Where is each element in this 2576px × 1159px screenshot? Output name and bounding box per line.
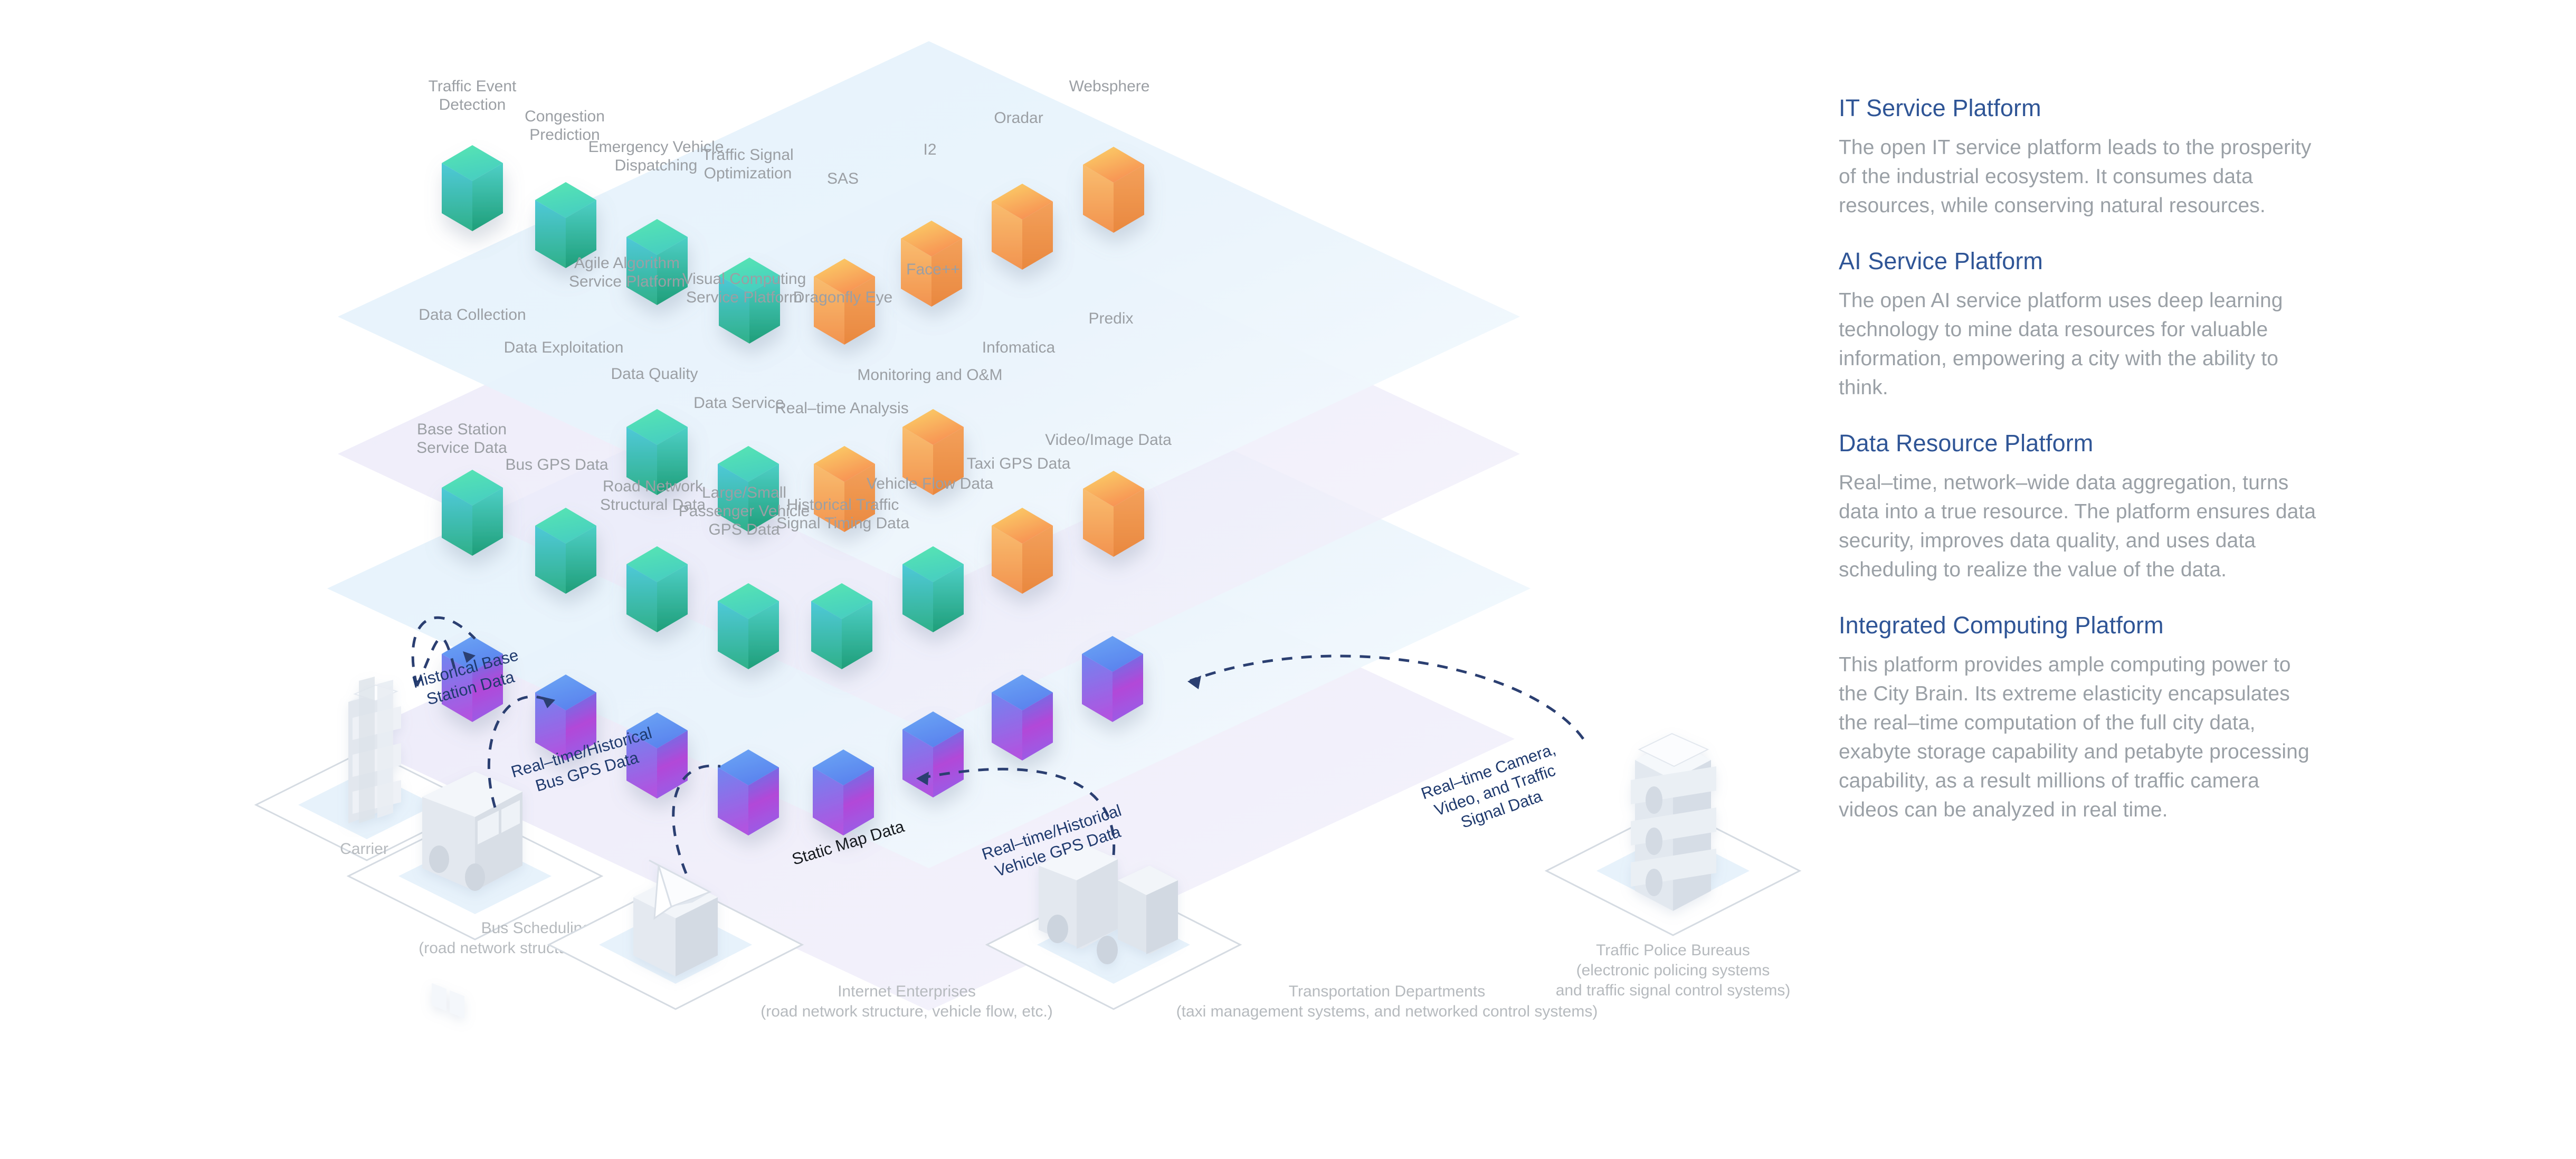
cube-data-collection[interactable] (442, 470, 503, 556)
description-title: Integrated Computing Platform (1839, 611, 2316, 639)
description-body: Real–time, network–wide data aggregation… (1839, 469, 2316, 585)
source-label: (taxi management systems, and networked … (1176, 1003, 1598, 1020)
source-label: and traffic signal control systems) (1556, 982, 1791, 999)
cube-label: Bus GPS Data (505, 456, 608, 473)
cube-label: Websphere (1069, 78, 1150, 95)
description-it-service-platform: IT Service Platform The open IT service … (1839, 94, 2316, 221)
cube-label: Large/Small (702, 484, 786, 501)
description-data-resource-platform: Data Resource Platform Real–time, networ… (1839, 429, 2316, 585)
cube-label: SAS (827, 170, 859, 187)
cube-label: Traffic Event (429, 78, 517, 95)
cube-video-image-data[interactable] (1082, 636, 1143, 722)
isometric-scene: Traffic Event Detection Congestion Predi… (0, 0, 1826, 1159)
cube-data-quality[interactable] (626, 546, 688, 632)
cube-label: Dragonfly Eye (793, 289, 892, 306)
cube-label: Taxi GPS Data (967, 455, 1071, 472)
cube-taxi-gps-data[interactable] (992, 674, 1053, 761)
cube-monitoring-and-om[interactable] (902, 546, 964, 632)
cube-label: Dispatching (615, 157, 698, 174)
cube-label: Service Data (416, 439, 507, 457)
cube-real-time-analysis[interactable] (811, 583, 872, 669)
cube-label: Optimization (704, 165, 792, 182)
cube-label: GPS Data (708, 521, 780, 538)
cube-label: Traffic Signal (702, 146, 793, 164)
cube-label: Video/Image Data (1045, 431, 1172, 449)
traffic-light-icon (1631, 734, 1716, 911)
description-title: AI Service Platform (1839, 247, 2316, 275)
cube-large-small-passenger-vehicle-gps-data[interactable] (718, 749, 779, 835)
cube-label: Vehicle Flow Data (867, 475, 993, 492)
cube-label: Data Exploitation (504, 339, 624, 356)
description-title: Data Resource Platform (1839, 429, 2316, 457)
description-body: The open IT service platform leads to th… (1839, 134, 2316, 221)
cube-data-exploitation[interactable] (535, 508, 596, 594)
cube-label: Service Platform (569, 273, 685, 290)
cube-label: Historical Traffic (787, 496, 899, 514)
description-title: IT Service Platform (1839, 94, 2316, 122)
cube-label: Real–time Analysis (775, 400, 908, 417)
cube-label: Monitoring and O&M (857, 366, 1002, 384)
description-body: The open AI service platform uses deep l… (1839, 287, 2316, 403)
cube-vehicle-flow-data[interactable] (902, 711, 964, 797)
cube-label: Data Service (693, 394, 784, 412)
cube-label: Congestion (525, 108, 605, 125)
cube-predix[interactable] (1083, 471, 1144, 557)
cube-data-service[interactable] (718, 583, 779, 669)
source-label: Traffic Police Bureaus (1596, 942, 1750, 959)
cube-label: Data Quality (611, 365, 698, 383)
cube-label: Road Network (603, 478, 704, 495)
cube-historical-traffic-signal-timing-data[interactable] (813, 749, 874, 835)
cube-label: Data Collection (419, 306, 526, 324)
cube-label: Agile Algorithm (574, 254, 680, 272)
source-label: Transportation Departments (1289, 983, 1485, 1000)
cube-traffic-event-detection[interactable] (442, 145, 503, 231)
cube-oradar[interactable] (992, 184, 1053, 270)
platform-descriptions: IT Service Platform The open IT service … (1839, 94, 2316, 825)
cube-label: Predix (1088, 310, 1133, 327)
cube-label: Infomatica (982, 339, 1056, 356)
cube-label: Detection (439, 96, 506, 113)
cell-tower-icon (348, 677, 401, 823)
description-ai-service-platform: AI Service Platform The open AI service … (1839, 247, 2316, 403)
source-label: Carrier (340, 840, 388, 858)
cube-label: Visual Computing (682, 270, 806, 288)
cube-label: Oradar (994, 109, 1043, 127)
cube-label: I2 (923, 141, 936, 158)
cube-label: Service Platform (686, 289, 802, 306)
source-label: (road network structure, vehicle flow, e… (761, 1003, 1053, 1020)
cube-label: Base Station (417, 421, 507, 438)
cube-label: Signal Timing Data (776, 515, 909, 532)
source-label: (electronic policing systems (1576, 962, 1770, 979)
description-body: This platform provides ample computing p… (1839, 651, 2316, 825)
cube-websphere[interactable] (1083, 147, 1144, 233)
diagram-canvas: Traffic Event Detection Congestion Predi… (0, 0, 2576, 1159)
cube-label: Face++ (906, 261, 960, 278)
description-integrated-computing-platform: Integrated Computing Platform This platf… (1839, 611, 2316, 825)
cube-infomatica[interactable] (992, 508, 1053, 594)
source-label: Internet Enterprises (838, 983, 976, 1000)
